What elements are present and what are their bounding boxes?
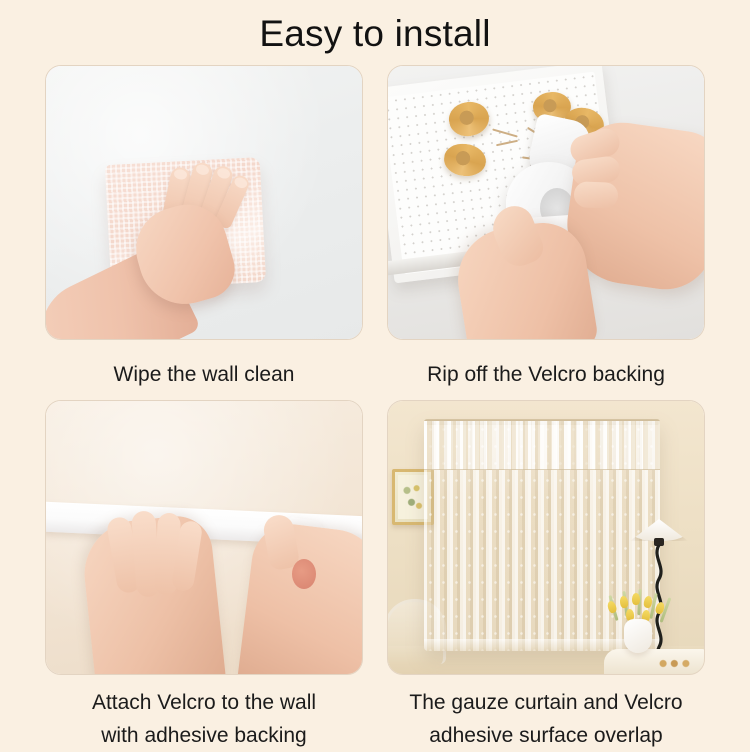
step-1-photo <box>45 65 363 340</box>
flower-vase <box>624 619 652 653</box>
finger <box>574 181 619 209</box>
step-3-caption-line-2: with adhesive backing <box>45 719 363 752</box>
step-2-photo <box>387 65 705 340</box>
step-4-caption-line-1: The gauze curtain and Velcro <box>387 686 705 719</box>
step-4-photo <box>387 400 705 675</box>
step-4-caption: The gauze curtain and Velcro adhesive su… <box>387 686 705 752</box>
step-3-caption-line-1: Attach Velcro to the wall <box>45 686 363 719</box>
step-2-caption: Rip off the Velcro backing <box>387 358 705 391</box>
step-1-caption: Wipe the wall clean <box>45 358 363 391</box>
step-3-photo <box>45 400 363 675</box>
snack-nuts <box>658 659 692 668</box>
step-4-caption-line-2: adhesive surface overlap <box>387 719 705 752</box>
step-3-caption: Attach Velcro to the wall with adhesive … <box>45 686 363 752</box>
pinch-gap <box>292 559 316 589</box>
curtain-valance <box>424 421 660 470</box>
step-1-caption-line-1: Wipe the wall clean <box>45 358 363 391</box>
step-2-caption-line-1: Rip off the Velcro backing <box>387 358 705 391</box>
product-instruction-graphic: Easy to install Wipe the wall clean <box>0 0 750 750</box>
steps-grid: Wipe the wall clean <box>0 0 750 750</box>
